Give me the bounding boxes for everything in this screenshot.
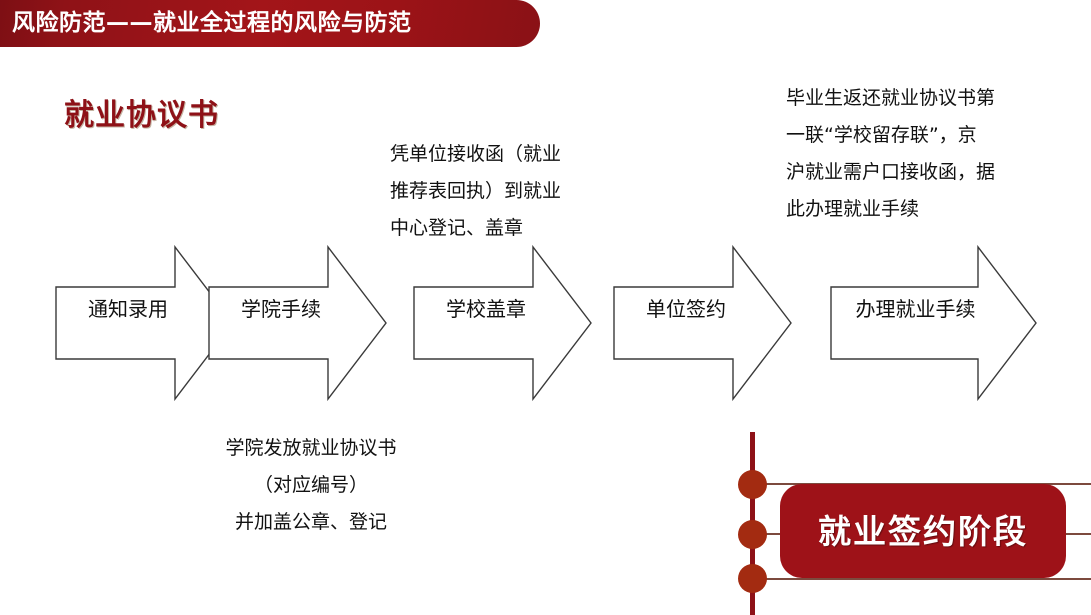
chevron-shape (56, 247, 233, 399)
section-heading: 就业协议书 (64, 90, 219, 134)
flow-step-arrow-4[interactable]: 单位签约 (613, 244, 793, 402)
note-school-seal-step: 凭单位接收函（就业 推荐表回执）到就业 中心登记、盖章 (390, 136, 620, 247)
stage-bullet-dot-2 (738, 520, 767, 549)
title-banner: 风险防范——就业全过程的风险与防范 (0, 0, 540, 47)
stage-badge[interactable]: 就业签约阶段 (780, 484, 1066, 578)
flow-step-arrow-5[interactable]: 办理就业手续 (830, 244, 1035, 402)
chevron-shape (209, 247, 386, 399)
stage-badge-label: 就业签约阶段 (818, 515, 1028, 548)
stage-horizontal-line-3 (752, 578, 1091, 580)
flow-step-arrow-2[interactable]: 学院手续 (208, 244, 388, 402)
chevron-shape (831, 247, 1036, 399)
chevron-shape (414, 247, 591, 399)
slide-canvas: 风险防范——就业全过程的风险与防范 就业协议书 凭单位接收函（就业 推荐表回执）… (0, 0, 1091, 615)
process-flow: 通知录用 学院手续 学校盖章 单位签约 办理就业手续 (0, 244, 1091, 404)
note-college-issue-step: 学院发放就业协议书 （对应编号） 并加盖公章、登记 (186, 430, 436, 541)
stage-bullet-dot-1 (738, 470, 767, 499)
note-final-procedure-step: 毕业生返还就业协议书第 一联“学校留存联”，京 沪就业需户口接收函，据 此办理就… (786, 80, 1054, 228)
flow-step-arrow-3[interactable]: 学校盖章 (413, 244, 593, 402)
title-banner-text: 风险防范——就业全过程的风险与防范 (0, 12, 412, 35)
stage-bullet-dot-3 (738, 564, 767, 593)
stage-decoration: 就业签约阶段 (735, 432, 1091, 615)
chevron-shape (614, 247, 791, 399)
